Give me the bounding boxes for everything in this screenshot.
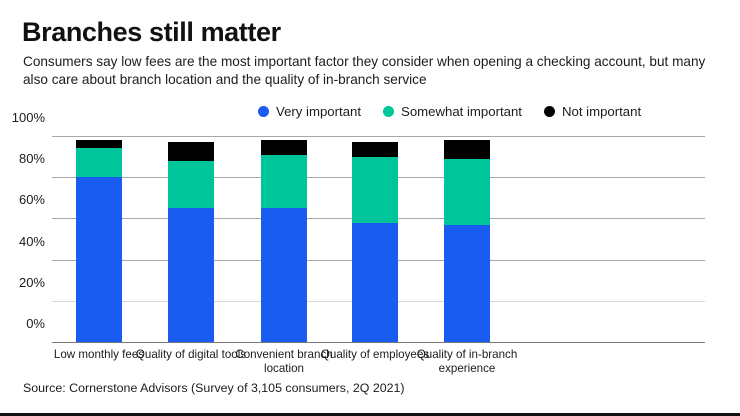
bar-segment[interactable] [444,225,490,342]
bar-group-3[interactable] [352,142,398,342]
bar-group-4[interactable] [444,140,490,342]
y-axis: 0%20%40%60%80%100% [0,124,52,354]
legend-swatch-icon [383,106,394,117]
bar-segment[interactable] [168,142,214,161]
bar-segment[interactable] [352,223,398,342]
bar-group-0[interactable] [76,140,122,342]
bar-group-2[interactable] [261,140,307,342]
source-note: Source: Cornerstone Advisors (Survey of … [23,381,405,395]
bar-segment[interactable] [168,208,214,342]
chart-subtitle: Consumers say low fees are the most impo… [23,53,713,89]
y-tick-label-20: 20% [19,276,45,289]
gridline-0 [52,342,705,343]
y-tick-label-60: 60% [19,193,45,206]
gridline-100 [52,136,705,137]
legend-item-2[interactable]: Not important [544,104,641,119]
legend-label: Not important [562,104,641,119]
legend-swatch-icon [258,106,269,117]
y-tick-label-80: 80% [19,152,45,165]
chart-legend: Very importantSomewhat importantNot impo… [258,104,641,119]
y-tick-label-100: 100% [12,111,45,124]
legend-swatch-icon [544,106,555,117]
bar-segment[interactable] [444,159,490,225]
bar-segment[interactable] [352,142,398,156]
page-title: Branches still matter [22,18,281,48]
legend-label: Somewhat important [401,104,522,119]
plot-area [52,136,705,342]
y-tick-label-0: 0% [26,317,45,330]
y-tick-label-40: 40% [19,235,45,248]
chart-page: Branches still matter Consumers say low … [0,0,740,416]
bar-segment[interactable] [261,208,307,342]
bar-segment[interactable] [444,140,490,159]
bar-segment[interactable] [352,157,398,223]
bar-segment[interactable] [168,161,214,208]
x-axis: Low monthly feesQuality of digital tools… [52,348,705,384]
bar-segment[interactable] [261,155,307,209]
legend-item-1[interactable]: Somewhat important [383,104,522,119]
legend-label: Very important [276,104,361,119]
bar-segment[interactable] [76,148,122,177]
legend-item-0[interactable]: Very important [258,104,361,119]
x-tick-label-4: Quality of in-branch experience [407,348,527,377]
bar-segment[interactable] [76,140,122,148]
bar-segment[interactable] [261,140,307,154]
bar-segment[interactable] [76,177,122,342]
bar-group-1[interactable] [168,142,214,342]
